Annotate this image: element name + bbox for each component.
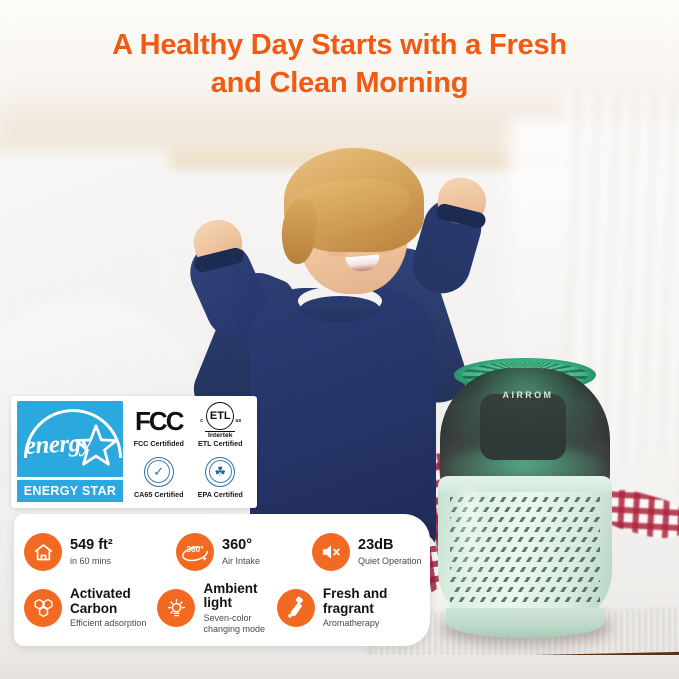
feature-title: 360° <box>222 538 260 554</box>
certification-marks-grid: FCC FCC Certifided c ETL us Intertek <box>123 401 251 503</box>
fcc-mark-text: FCC <box>135 408 182 434</box>
fcc-mark-icon: FCC <box>135 406 182 436</box>
energy-star-label-bar: ENERGY STAR <box>17 477 123 502</box>
feature-title: Activated Carbon <box>70 587 157 616</box>
product-marketing-image: AIRROM A Healthy Day Starts with a Fresh… <box>0 0 679 679</box>
floor <box>0 655 679 679</box>
energy-star-graphic: energy <box>17 401 123 477</box>
carbon-honeycomb-icon <box>24 589 62 627</box>
child-shirt-collar <box>300 296 380 322</box>
feature-ambient-light: Ambient light Seven-color changing mode <box>157 582 276 634</box>
mute-speaker-icon-svg <box>320 542 342 562</box>
cert-item-ca65: ✓ CA65 Certified <box>128 452 190 503</box>
cert-item-epa: ☘ EPA Certified <box>190 452 252 503</box>
feature-text: 549 ft² in 60 mins <box>70 538 113 566</box>
device-brand-logo: AIRROM <box>488 390 568 400</box>
device-base <box>446 608 604 638</box>
feature-aromatherapy: Fresh and fragrant Aromatherapy <box>277 587 422 629</box>
headline-line-2: and Clean Morning <box>0 64 679 102</box>
device-highlight <box>456 486 482 616</box>
feature-row-top: 549 ft² in 60 mins 360° 360° Air Intake <box>24 524 422 580</box>
feature-subtitle: Air Intake <box>222 556 260 567</box>
feature-subtitle: Efficient adsorption <box>70 618 157 629</box>
feature-title: 23dB <box>358 538 422 554</box>
ca65-seal-glyph: ✓ <box>153 465 164 478</box>
energy-star-logo: energy ENERGY STAR <box>17 401 123 502</box>
page-title: A Healthy Day Starts with a Fresh and Cl… <box>0 26 679 103</box>
etl-mark-icon: c ETL us Intertek <box>205 406 235 436</box>
air-purifier-device: AIRROM <box>432 358 618 648</box>
rotation-360-icon-svg: 360° <box>180 540 210 564</box>
ca65-seal-icon: ✓ <box>144 457 174 487</box>
epa-caption: EPA Certified <box>198 490 243 499</box>
fcc-caption: FCC Certifided <box>134 439 184 448</box>
etl-us-mark: us <box>235 418 241 424</box>
headline-line-1: A Healthy Day Starts with a Fresh <box>0 26 679 64</box>
feature-air-intake: 360° 360° Air Intake <box>176 533 312 571</box>
feature-activated-carbon: Activated Carbon Efficient adsorption <box>24 587 157 629</box>
feature-text: 23dB Quiet Operation <box>358 538 422 566</box>
cert-item-etl: c ETL us Intertek ETL Certified <box>190 401 252 452</box>
device-front-panel <box>480 394 566 460</box>
lightbulb-icon-svg <box>165 597 188 620</box>
mute-speaker-icon <box>312 533 350 571</box>
epa-seal: ☘ <box>205 457 235 487</box>
ca65-caption: CA65 Certified <box>134 490 184 499</box>
dropper-icon <box>277 589 315 627</box>
feature-subtitle: in 60 mins <box>70 556 113 567</box>
etl-c-mark: c <box>200 418 203 424</box>
house-icon-svg <box>33 542 54 563</box>
epa-seal-icon: ☘ <box>205 457 235 487</box>
feature-highlights-card: 549 ft² in 60 mins 360° 360° Air Intake <box>14 514 430 646</box>
etl-circle: c ETL us <box>206 402 234 430</box>
feature-title: 549 ft² <box>70 538 113 554</box>
etl-mark-group: c ETL us Intertek <box>205 402 235 439</box>
ca65-seal: ✓ <box>144 457 174 487</box>
feature-text: Ambient light Seven-color changing mode <box>203 582 276 634</box>
star-icon <box>74 423 118 467</box>
etl-caption: ETL Certified <box>198 439 243 448</box>
feature-noise-level: 23dB Quiet Operation <box>312 533 422 571</box>
feature-text: Fresh and fragrant Aromatherapy <box>323 587 422 629</box>
feature-title: Ambient light <box>203 582 276 611</box>
feature-text: 360° Air Intake <box>222 538 260 566</box>
feature-row-bottom: Activated Carbon Efficient adsorption Am… <box>24 580 422 636</box>
house-icon <box>24 533 62 571</box>
feature-coverage-area: 549 ft² in 60 mins <box>24 533 176 571</box>
feature-text: Activated Carbon Efficient adsorption <box>70 587 157 629</box>
dropper-icon-svg <box>285 596 307 619</box>
feature-title: Fresh and fragrant <box>323 587 422 616</box>
lightbulb-icon <box>157 589 195 627</box>
feature-subtitle: Seven-color changing mode <box>203 613 276 634</box>
etl-mark-text: ETL <box>210 410 231 422</box>
rotation-360-icon: 360° <box>176 533 214 571</box>
feature-subtitle: Aromatherapy <box>323 618 422 629</box>
cert-item-fcc: FCC FCC Certifided <box>128 401 190 452</box>
epa-seal-glyph: ☘ <box>214 465 226 478</box>
svg-text:360°: 360° <box>186 544 203 554</box>
feature-subtitle: Quiet Operation <box>358 556 422 567</box>
energy-star-label: ENERGY STAR <box>24 484 116 498</box>
carbon-honeycomb-icon-svg <box>32 597 55 618</box>
certification-panel: energy ENERGY STAR FCC FCC Certifided <box>11 396 257 508</box>
